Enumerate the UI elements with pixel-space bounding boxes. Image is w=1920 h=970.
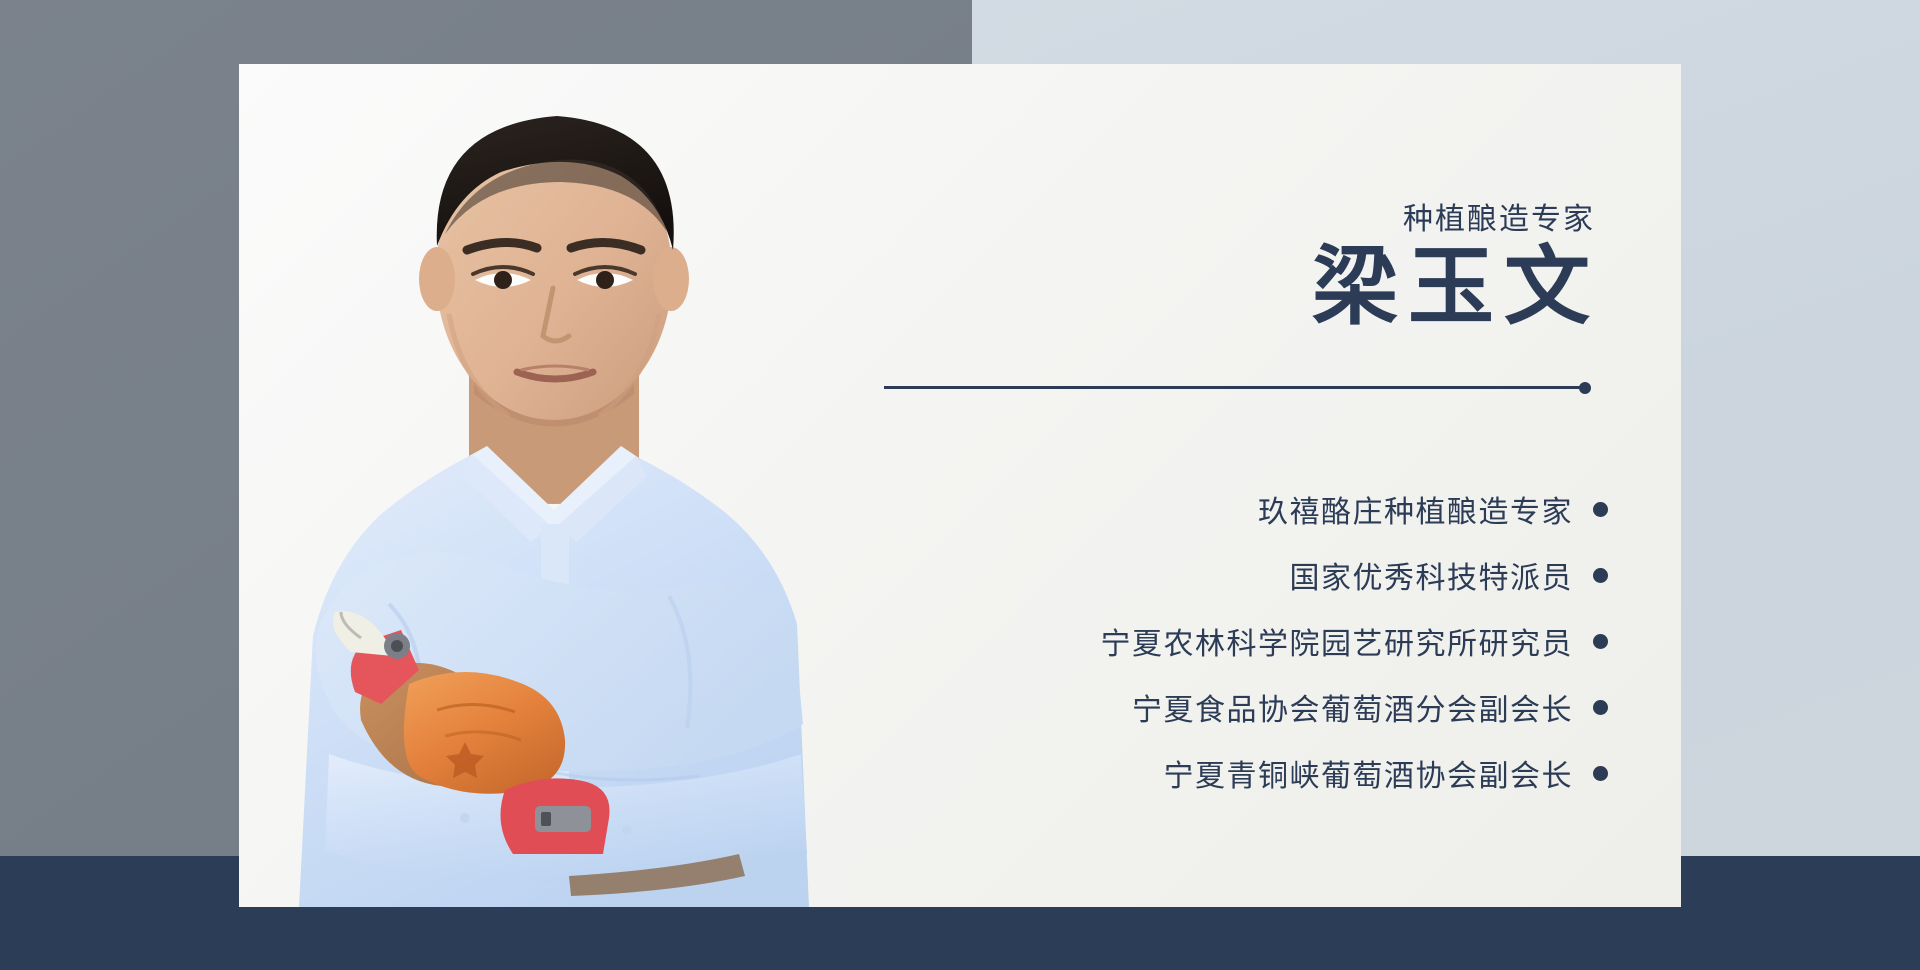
bullet-dot-icon bbox=[1593, 634, 1608, 649]
list-item: 宁夏食品协会葡萄酒分会副会长 bbox=[1101, 674, 1609, 740]
bullet-dot-icon bbox=[1593, 502, 1608, 517]
divider bbox=[884, 382, 1591, 394]
poster-canvas: 种植酿造专家 梁玉文 玖禧酪庄种植酿造专家 国家优秀科技特派员 宁夏农林科学院园… bbox=[0, 0, 1920, 970]
credential-label: 宁夏青铜峡葡萄酒协会副会长 bbox=[1164, 751, 1574, 795]
bullet-dot-icon bbox=[1593, 700, 1608, 715]
profile-name: 梁玉文 bbox=[1312, 242, 1600, 332]
credential-label: 宁夏农林科学院园艺研究所研究员 bbox=[1101, 619, 1574, 663]
divider-line bbox=[884, 386, 1581, 389]
bullet-dot-icon bbox=[1593, 568, 1608, 583]
list-item: 国家优秀科技特派员 bbox=[1101, 542, 1609, 608]
credentials-list: 玖禧酪庄种植酿造专家 国家优秀科技特派员 宁夏农林科学院园艺研究所研究员 宁夏食… bbox=[1101, 476, 1609, 806]
divider-end-dot-icon bbox=[1579, 382, 1591, 394]
credential-label: 宁夏食品协会葡萄酒分会副会长 bbox=[1132, 685, 1573, 729]
list-item: 宁夏青铜峡葡萄酒协会副会长 bbox=[1101, 740, 1609, 806]
profile-subtitle: 种植酿造专家 bbox=[1403, 194, 1595, 238]
bullet-dot-icon bbox=[1593, 766, 1608, 781]
list-item: 玖禧酪庄种植酿造专家 bbox=[1101, 476, 1609, 542]
list-item: 宁夏农林科学院园艺研究所研究员 bbox=[1101, 608, 1609, 674]
profile-info: 种植酿造专家 梁玉文 玖禧酪庄种植酿造专家 国家优秀科技特派员 宁夏农林科学院园… bbox=[939, 64, 1674, 907]
credential-label: 国家优秀科技特派员 bbox=[1290, 553, 1574, 597]
portrait-photo bbox=[269, 64, 839, 907]
credential-label: 玖禧酪庄种植酿造专家 bbox=[1258, 487, 1573, 531]
profile-card: 种植酿造专家 梁玉文 玖禧酪庄种植酿造专家 国家优秀科技特派员 宁夏农林科学院园… bbox=[239, 64, 1681, 907]
